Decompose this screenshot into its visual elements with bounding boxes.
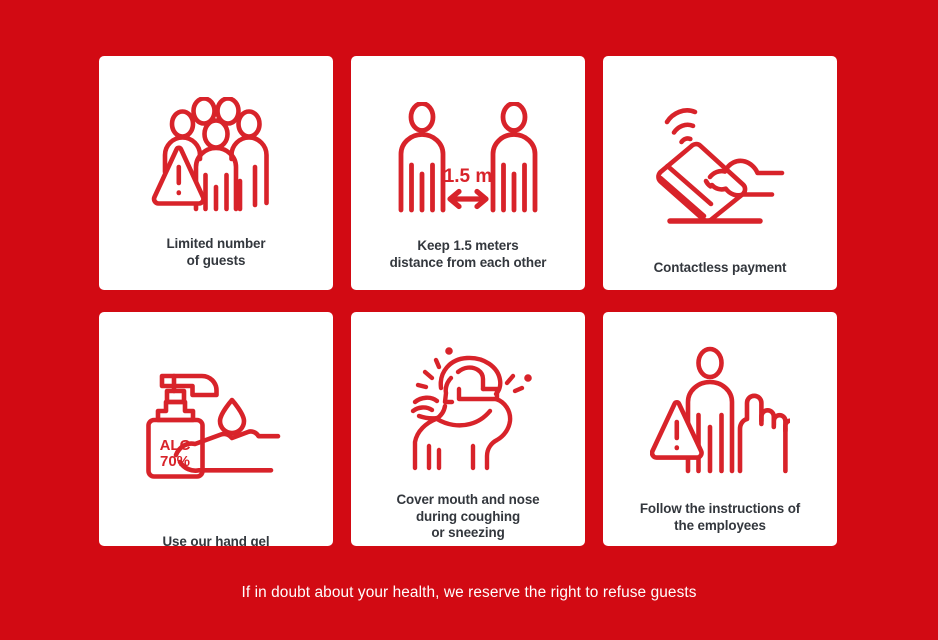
card-label: Keep 1.5 meters distance from each other <box>382 238 555 271</box>
two-people-distance-icon: 1.5 m <box>351 56 585 234</box>
card-label: Contactless payment <box>646 260 795 277</box>
bottle-label-line2: 70% <box>160 453 190 470</box>
card-label: Follow the instructions of the employees <box>632 501 808 534</box>
hand-sanitizer-bottle-icon: ALC 70% <box>99 312 333 500</box>
card-label: Use our hand gel <box>154 534 277 546</box>
card-limited-guests[interactable]: Limited number of guests <box>99 56 333 290</box>
card-label: Limited number of guests <box>158 236 273 269</box>
card-cover-cough[interactable]: Cover mouth and nose during coughing or … <box>351 312 585 546</box>
card-distance[interactable]: 1.5 m Keep 1.5 meters distance from each… <box>351 56 585 290</box>
card-follow-instructions[interactable]: Follow the instructions of the employees <box>603 312 837 546</box>
card-label: Cover mouth and nose during coughing or … <box>388 492 547 542</box>
footer-notice: If in doubt about your health, we reserv… <box>0 584 938 602</box>
person-pointing-warning-icon <box>603 312 837 487</box>
distance-value-text: 1.5 m <box>444 166 493 187</box>
crowd-warning-icon <box>99 56 333 232</box>
poster-root: Limited number of guests <box>0 0 938 640</box>
cough-into-elbow-icon <box>351 312 585 482</box>
rules-grid: Limited number of guests <box>99 56 837 546</box>
card-contactless-payment[interactable]: Contactless payment <box>603 56 837 290</box>
card-hand-gel[interactable]: ALC 70% Use our hand gel <box>99 312 333 546</box>
contactless-card-hand-icon <box>603 56 837 236</box>
bottle-label-line1: ALC <box>160 437 191 454</box>
